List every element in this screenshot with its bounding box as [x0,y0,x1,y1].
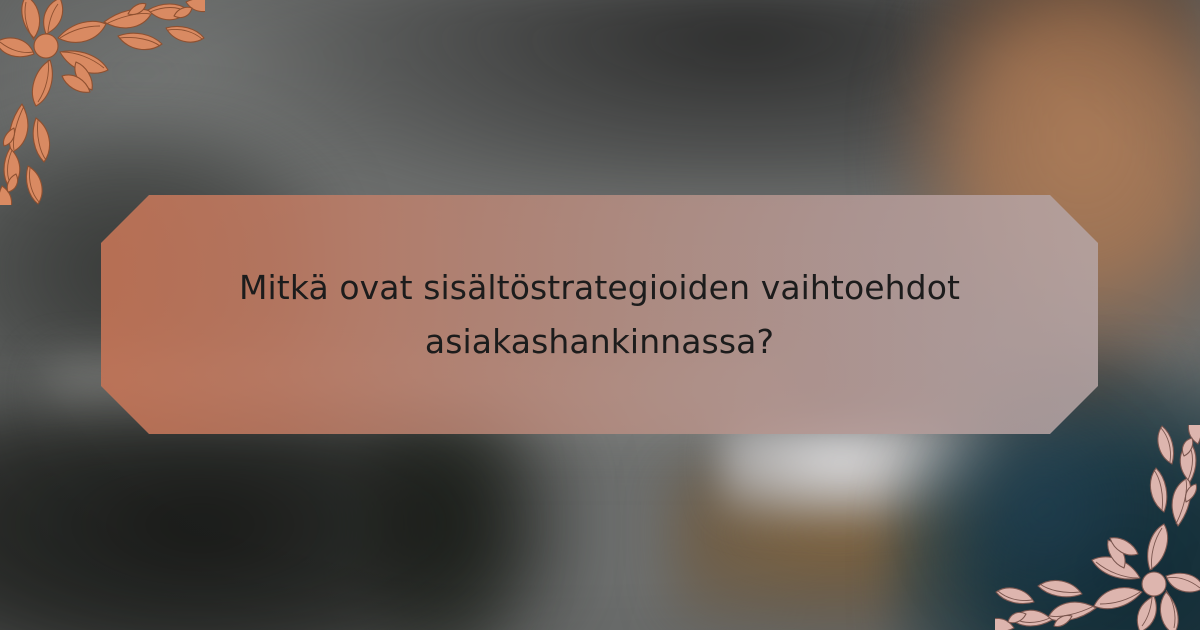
question-text: Mitkä ovat sisältöstrategioiden vaihtoeh… [101,261,1098,368]
question-card: Mitkä ovat sisältöstrategioiden vaihtoeh… [101,195,1098,434]
screenshot-canvas: Mitkä ovat sisältöstrategioiden vaihtoeh… [0,0,1200,630]
